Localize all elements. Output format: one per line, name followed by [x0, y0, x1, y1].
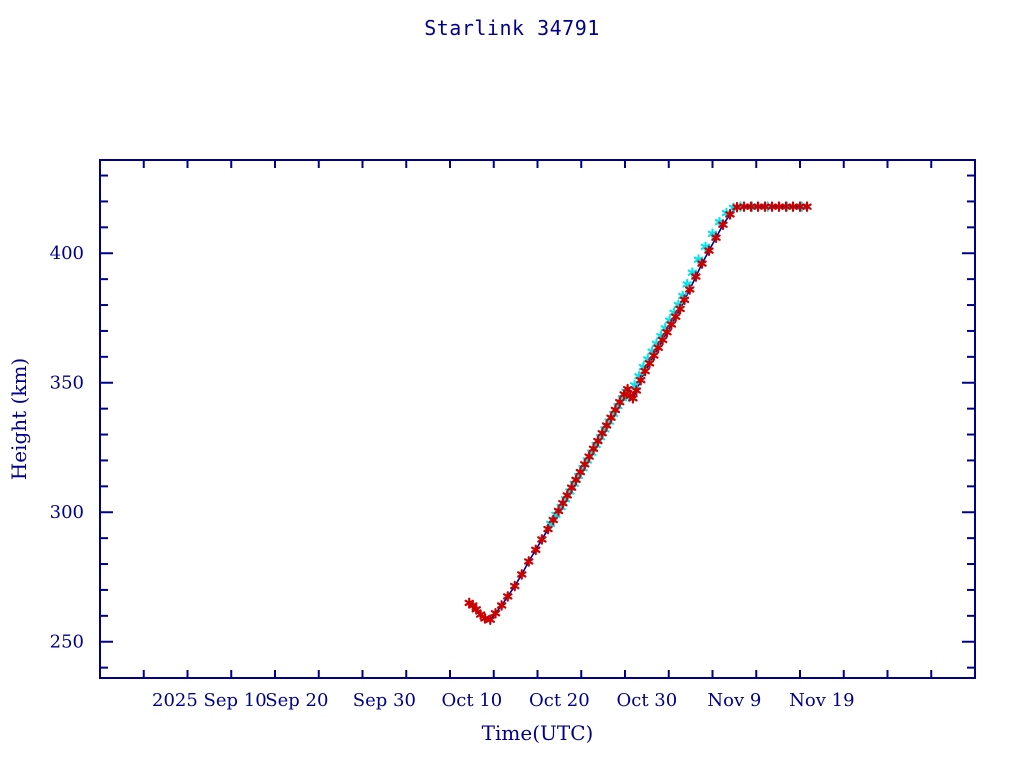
height-vs-time-plot: 2503003504002025 Sep 10Sep 20Sep 30Oct 1… — [0, 0, 1024, 768]
x-tick-label: 2025 Sep 10 — [152, 690, 267, 711]
data-line — [469, 207, 807, 620]
x-tick-label: Oct 20 — [529, 690, 590, 711]
plot-data-series — [466, 202, 811, 624]
x-tick-label: Sep 20 — [265, 690, 328, 711]
y-tick-label: 350 — [50, 373, 84, 394]
x-axis-title: Time(UTC) — [482, 721, 594, 745]
chart-page: Starlink 34791 2503003504002025 Sep 10Se… — [0, 0, 1024, 768]
y-tick-label: 400 — [50, 243, 84, 264]
axis-titles: Time(UTC)Height (km) — [7, 358, 593, 745]
series-mean-height-red — [466, 202, 811, 624]
x-tick-label: Oct 30 — [617, 690, 678, 711]
x-tick-label: Sep 30 — [353, 690, 416, 711]
y-tick-label: 300 — [50, 502, 84, 523]
x-tick-label: Oct 10 — [442, 690, 503, 711]
plot-axes — [100, 160, 975, 678]
y-tick-label: 250 — [50, 632, 84, 653]
x-tick-label: Nov 9 — [707, 690, 761, 711]
plot-frame — [100, 160, 975, 678]
series-apogee-perigee-cyan — [547, 202, 805, 528]
y-axis-title: Height (km) — [7, 358, 31, 480]
x-tick-label: Nov 19 — [789, 690, 854, 711]
tick-labels: 2503003504002025 Sep 10Sep 20Sep 30Oct 1… — [50, 243, 855, 711]
